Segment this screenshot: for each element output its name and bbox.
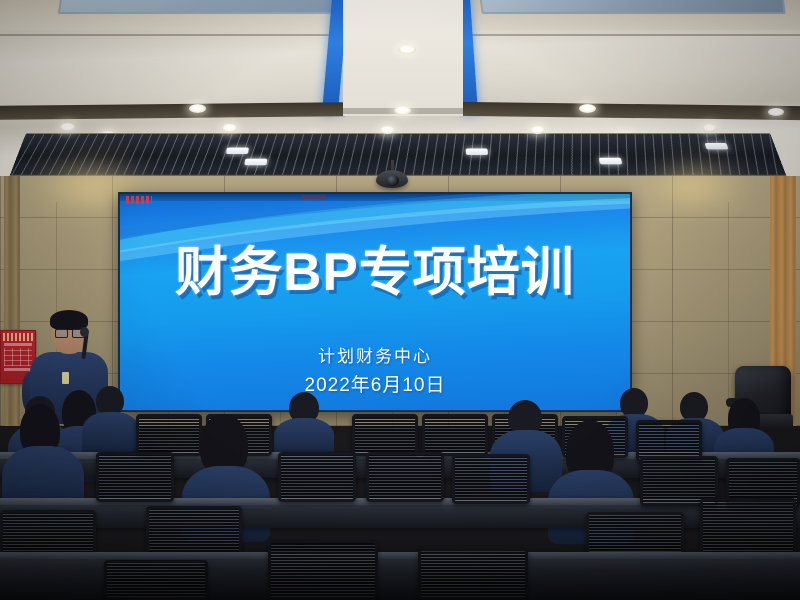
chair-backrest bbox=[352, 414, 418, 456]
led-display-screen[interactable]: 财务BP专项培训 计划财务中心 2022年6月10日 bbox=[118, 192, 632, 412]
downlight bbox=[768, 108, 784, 116]
chair bbox=[268, 540, 378, 600]
speaker-id-badge bbox=[62, 372, 69, 384]
grille-light-tube bbox=[244, 159, 267, 166]
chair bbox=[278, 452, 356, 502]
desk-surface bbox=[0, 552, 800, 559]
ceiling-center-beam bbox=[343, 0, 463, 116]
downlight bbox=[189, 104, 206, 113]
chair bbox=[700, 498, 796, 560]
downlight bbox=[530, 126, 545, 134]
ceiling bbox=[0, 0, 800, 185]
grille-light-tube bbox=[705, 143, 729, 149]
ceiling-recess-left bbox=[0, 102, 345, 120]
chair bbox=[422, 414, 488, 456]
notice-board-line bbox=[4, 343, 32, 346]
chair-backrest bbox=[104, 560, 208, 600]
ceiling-recess-right bbox=[461, 102, 800, 120]
microphone-head-icon bbox=[80, 327, 89, 337]
slide-title: 财务BP专项培训 bbox=[120, 246, 630, 299]
notice-board-header bbox=[3, 333, 33, 341]
grille-light-tube bbox=[226, 148, 249, 154]
downlight bbox=[380, 126, 395, 134]
grille-light-tube bbox=[599, 158, 623, 165]
camera-lens-icon bbox=[386, 175, 399, 186]
grille-light-tube bbox=[466, 148, 488, 154]
training-room-photo: 财务BP专项培训 计划财务中心 2022年6月10日 bbox=[0, 0, 800, 600]
chair bbox=[352, 414, 418, 456]
chair bbox=[452, 454, 530, 504]
slide-logo-secondary bbox=[302, 195, 326, 199]
ceiling-light-panel-right bbox=[478, 0, 785, 14]
slide-date: 2022年6月10日 bbox=[120, 370, 630, 397]
chair-backrest bbox=[418, 548, 528, 600]
wall-wood-trim-left bbox=[4, 176, 20, 426]
presentation-slide: 财务BP专项培训 计划财务中心 2022年6月10日 bbox=[120, 194, 630, 410]
chair-backrest bbox=[96, 452, 174, 502]
chair-backrest bbox=[700, 498, 796, 560]
chair bbox=[96, 452, 174, 502]
downlight bbox=[702, 124, 717, 132]
wall-light-pool-right bbox=[640, 164, 750, 208]
chair bbox=[136, 414, 202, 456]
slide-logo-watermark bbox=[126, 196, 152, 204]
downlight bbox=[222, 124, 237, 132]
downlight bbox=[394, 106, 411, 115]
chair-backrest bbox=[278, 452, 356, 502]
chair-backrest bbox=[136, 414, 202, 456]
notice-board-line bbox=[4, 368, 32, 371]
downlight bbox=[579, 104, 596, 113]
slide-subtitle: 计划财务中心 bbox=[120, 342, 630, 367]
ceiling-light-panel-left bbox=[58, 0, 356, 14]
chair-backrest bbox=[268, 540, 378, 600]
downlight bbox=[398, 45, 416, 54]
chair-backrest bbox=[366, 452, 444, 502]
chair bbox=[366, 452, 444, 502]
downlight bbox=[60, 123, 75, 131]
chair bbox=[104, 560, 208, 600]
notice-board-table bbox=[4, 348, 32, 366]
chair-backrest bbox=[452, 454, 530, 504]
speaker-glasses-icon bbox=[55, 329, 83, 336]
chair-backrest bbox=[422, 414, 488, 456]
chair bbox=[418, 548, 528, 600]
